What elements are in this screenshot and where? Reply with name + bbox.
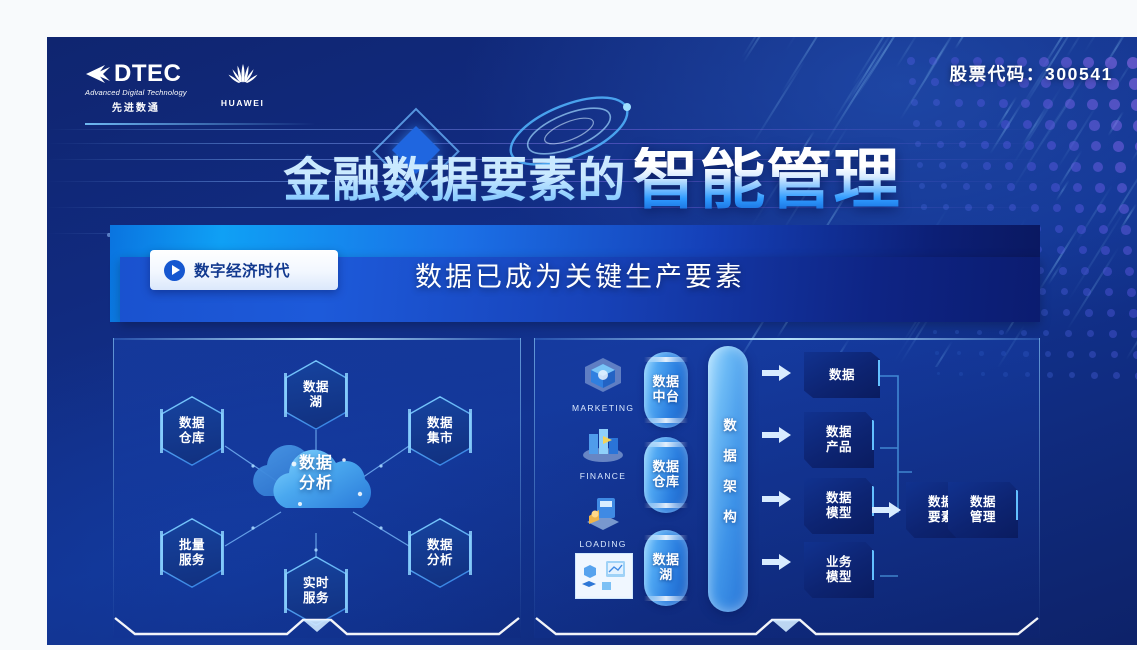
presentation-slide: DTEC Advanced Digital Technology 先进数通 [47,37,1137,645]
left-diagram-panel: 数据湖 数据仓库 数据集市 批量服务 [113,338,521,638]
output-box-label: 数据 [829,368,855,383]
dtec-logo: DTEC Advanced Digital Technology 先进数通 [85,62,187,114]
server-load-icon [579,519,627,536]
capsule-notch-bottom [644,418,688,423]
capsule-notch-top [644,535,688,540]
output-box-data[interactable]: 数据 [804,352,880,398]
slide-title: 金融数据要素的 智能管理 [47,137,1137,223]
capsule-notch-top [644,357,688,362]
cloud-center-node[interactable]: 数据分析 [248,434,384,522]
section-tag-pill[interactable]: 数字经济时代 [150,250,338,290]
hex-tick-right [345,569,348,613]
panel-bottom-edge [534,612,1040,638]
hex-tick-right [221,531,224,575]
hex-node-data-lake[interactable]: 数据湖 [285,360,347,430]
source-caption: LOADING [572,539,634,549]
box-edge-highlight [1016,490,1018,520]
output-box-data-product[interactable]: 数据产品 [804,412,874,468]
capsule-label: 数据湖 [652,553,679,583]
output-box-label: 数据模型 [826,491,852,521]
box-edge-highlight [872,550,874,580]
hex-node-label: 数据仓库 [179,416,205,446]
flow-arrow-icon [762,426,792,444]
output-box-data-model[interactable]: 数据模型 [804,478,874,534]
flow-arrow-icon [762,364,792,382]
capsule-label: 数据中台 [652,375,679,405]
hex-node-batch-service[interactable]: 批量服务 [161,518,223,588]
hex-tick-left [160,409,163,453]
logo-group: DTEC Advanced Digital Technology 先进数通 [85,62,264,114]
hex-node-label: 数据湖 [303,380,329,410]
capsule-notch-top [644,442,688,447]
source-caption: MARKETING [572,403,634,413]
hex-node-label: 数据分析 [427,538,453,568]
dtec-logo-word: DTEC [114,62,181,86]
hex-node-label: 批量服务 [179,538,205,568]
title-part-two: 智能管理 [633,147,901,213]
output-box-label: 数据产品 [826,425,852,455]
flow-arrow-icon [872,501,902,519]
right-flow-panel: MARKETING FINANCE [534,338,1040,638]
convergence-bracket [878,362,918,582]
hex-tick-right [221,409,224,453]
huawei-flower-icon [223,77,263,94]
flow-arrow-icon [762,490,792,508]
hex-node-realtime-service[interactable]: 实时服务 [285,556,347,626]
hex-node-label: 数据集市 [427,416,453,446]
flow-arrow-icon [762,553,792,571]
data-architecture-tower[interactable]: 数据架构 [708,346,748,612]
hex-tick-left [284,373,287,417]
capsule-data-warehouse[interactable]: 数据仓库 [644,437,688,513]
capsule-notch-bottom [644,596,688,601]
stock-code-label: 股票代码：300541 [950,61,1114,86]
play-icon [164,260,185,281]
hex-tick-right [345,373,348,417]
output-box-label: 业务模型 [826,555,852,585]
hex-node-data-mart[interactable]: 数据集市 [409,396,471,466]
capsule-label: 数据仓库 [652,460,679,490]
section-banner: 数字经济时代 数据已成为关键生产要素 [110,225,1040,322]
huawei-logo: HUAWEI [221,62,265,108]
hex-tick-right [469,409,472,453]
bank-chart-icon [579,451,627,468]
hexagon-network-diagram: 数据湖 数据仓库 数据集市 批量服务 [113,338,521,638]
final-box-data-management[interactable]: 数据管理 [948,482,1018,538]
section-headline: 数据已成为关键生产要素 [415,255,745,294]
cube-box-icon [579,383,627,400]
source-caption: FINANCE [572,471,634,481]
hex-tick-right [469,531,472,575]
source-loading[interactable]: LOADING [572,490,634,549]
source-marketing[interactable]: MARKETING [572,354,634,413]
hex-tick-left [284,569,287,613]
hex-node-label: 实时服务 [303,576,329,606]
box-edge-highlight [872,420,874,450]
capsule-notch-bottom [644,503,688,508]
output-box-business-model[interactable]: 业务模型 [804,542,874,598]
dtec-logo-tagline: Advanced Digital Technology [85,88,187,97]
dashboard-thumb-icon[interactable] [575,553,633,599]
hex-node-data-analysis[interactable]: 数据分析 [409,518,471,588]
huawei-logo-word: HUAWEI [221,98,265,108]
panel-right-edge [1039,338,1040,638]
tower-label: 数据架构 [718,418,738,540]
panel-top-edge [534,338,1040,340]
source-finance[interactable]: FINANCE [572,422,634,481]
panel-left-edge [534,338,535,638]
dtec-arrow-icon [85,63,111,85]
capsule-data-midplatform[interactable]: 数据中台 [644,352,688,428]
hex-tick-left [160,531,163,575]
hex-tick-left [408,531,411,575]
hex-tick-left [408,409,411,453]
title-part-one: 金融数据要素的 [283,156,626,204]
logo-underline-decoration [85,123,315,125]
hex-node-data-warehouse[interactable]: 数据仓库 [161,396,223,466]
dtec-logo-chinese: 先进数通 [85,99,187,114]
capsule-data-lake[interactable]: 数据湖 [644,530,688,606]
cloud-center-label: 数据分析 [248,454,384,493]
final-box-label: 数据管理 [970,495,996,525]
section-tag-label: 数字经济时代 [194,259,290,281]
